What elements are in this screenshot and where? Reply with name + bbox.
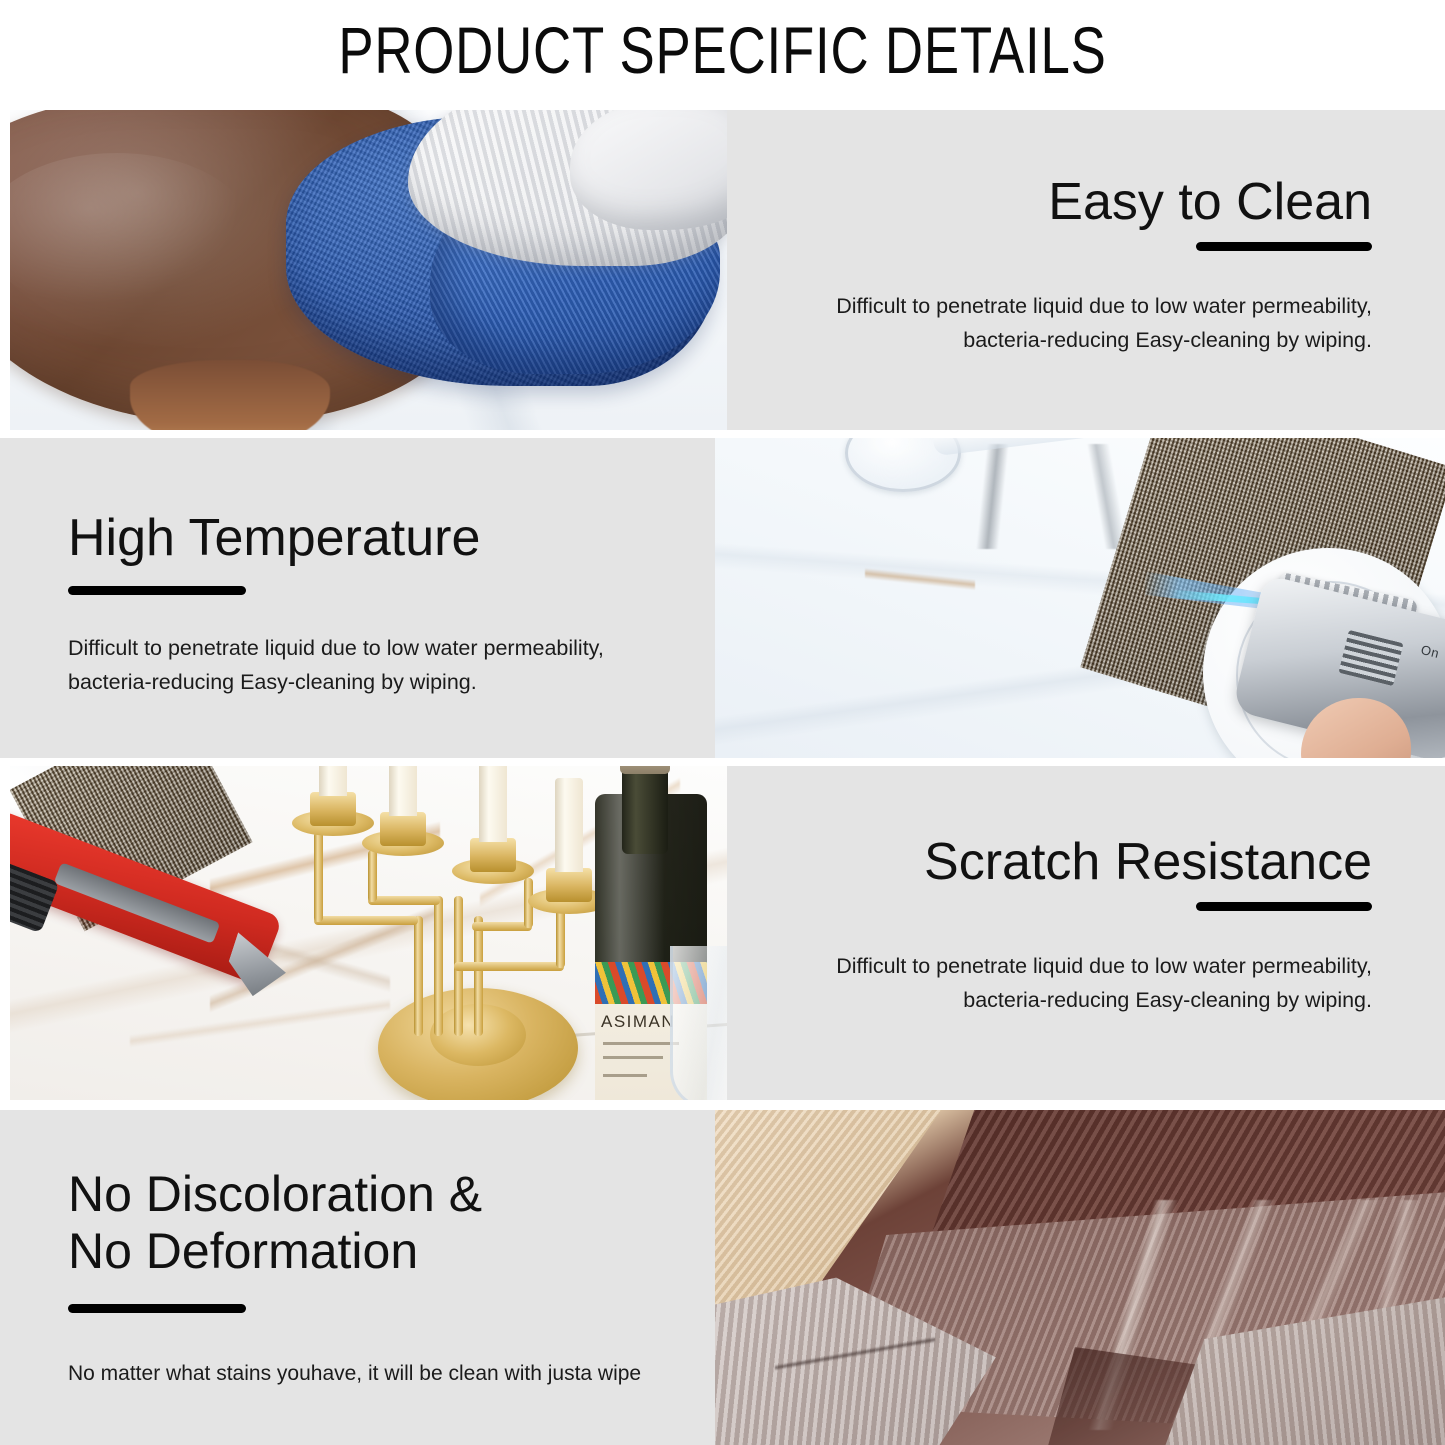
section-body: Difficult to penetrate liquid due to low… xyxy=(767,949,1372,1017)
candelabra-arm-4 xyxy=(472,922,532,931)
heading-underline-bar xyxy=(1196,242,1372,251)
section-heading: Easy to Clean xyxy=(767,172,1372,232)
gloved-hand-highlight xyxy=(570,110,727,230)
image-high-temperature: On xyxy=(715,438,1445,758)
body-line-1: No matter what stains youhave, it will b… xyxy=(68,1357,685,1391)
candelabra-stem-1 xyxy=(414,916,423,1036)
rock-crack xyxy=(775,1295,935,1425)
text-panel-no-discoloration: No Discoloration & No Deformation No mat… xyxy=(0,1110,715,1445)
wine-bottle-neck xyxy=(622,766,668,854)
candle-cup-3 xyxy=(470,838,516,872)
brown-spill-edge xyxy=(130,360,330,430)
section-heading: High Temperature xyxy=(68,508,685,568)
heading-underline-bar xyxy=(68,1304,246,1313)
candle-4 xyxy=(555,778,583,872)
body-line-1: Difficult to penetrate liquid due to low… xyxy=(767,289,1372,323)
wine-bottle-cap xyxy=(620,766,670,774)
section-heading: Scratch Resistance xyxy=(767,832,1372,892)
candle-cup-1 xyxy=(310,792,356,826)
image-no-discoloration xyxy=(715,1110,1445,1445)
candelabra-arm-3 xyxy=(454,962,564,971)
section-high-temperature: High Temperature Difficult to penetrate … xyxy=(0,438,1445,758)
image-scratch-resistance: ASIMAN xyxy=(10,766,727,1100)
wine-glass xyxy=(670,946,727,1100)
candelabra-riser-1 xyxy=(314,832,323,922)
body-line-1: Difficult to penetrate liquid due to low… xyxy=(68,631,685,665)
text-panel-easy-to-clean: Easy to Clean Difficult to penetrate liq… xyxy=(727,110,1445,430)
label-rule-1 xyxy=(603,1042,679,1045)
section-no-discoloration-no-deformation: No Discoloration & No Deformation No mat… xyxy=(0,1110,1445,1445)
candelabra-stem-4 xyxy=(474,916,483,1036)
candle-2 xyxy=(389,766,417,816)
candle-3 xyxy=(479,766,507,842)
text-panel-scratch-resistance: Scratch Resistance Difficult to penetrat… xyxy=(727,766,1445,1100)
marble-thin-vein xyxy=(865,498,975,758)
candelabra-riser-2 xyxy=(368,850,377,902)
text-panel-high-temperature: High Temperature Difficult to penetrate … xyxy=(0,438,715,758)
section-scratch-resistance: ASIMAN Scratch Resistance Difficult to p… xyxy=(10,766,1445,1100)
section-easy-to-clean: Easy to Clean Difficult to penetrate liq… xyxy=(10,110,1445,430)
candelabra-stem-2 xyxy=(434,896,443,1036)
heading-line-1: No Discoloration & xyxy=(68,1166,685,1223)
section-body: No matter what stains youhave, it will b… xyxy=(68,1357,685,1391)
section-body: Difficult to penetrate liquid due to low… xyxy=(68,631,685,699)
candelabra-arm-2 xyxy=(368,896,440,905)
heading-underline-bar xyxy=(68,586,246,595)
heading-underline-bar xyxy=(1196,902,1372,911)
image-easy-to-clean xyxy=(10,110,727,430)
body-line-1: Difficult to penetrate liquid due to low… xyxy=(767,949,1372,983)
product-details-page: PRODUCT SPECIFIC DETAILS Easy to Clean D… xyxy=(0,0,1445,1445)
body-line-2: bacteria-reducing Easy-cleaning by wipin… xyxy=(767,323,1372,357)
body-line-2: bacteria-reducing Easy-cleaning by wipin… xyxy=(767,983,1372,1017)
label-rule-2 xyxy=(603,1056,663,1059)
label-rule-3 xyxy=(603,1074,647,1077)
heading-line-2: No Deformation xyxy=(68,1223,685,1280)
body-line-2: bacteria-reducing Easy-cleaning by wipin… xyxy=(68,665,685,699)
section-heading: No Discoloration & No Deformation xyxy=(68,1166,685,1280)
candle-cup-4 xyxy=(546,868,592,902)
candle-cup-2 xyxy=(380,812,426,846)
candelabra-arm-1 xyxy=(314,916,418,925)
section-body: Difficult to penetrate liquid due to low… xyxy=(767,289,1372,357)
candle-1 xyxy=(319,766,347,796)
page-title: PRODUCT SPECIFIC DETAILS xyxy=(145,11,1301,89)
